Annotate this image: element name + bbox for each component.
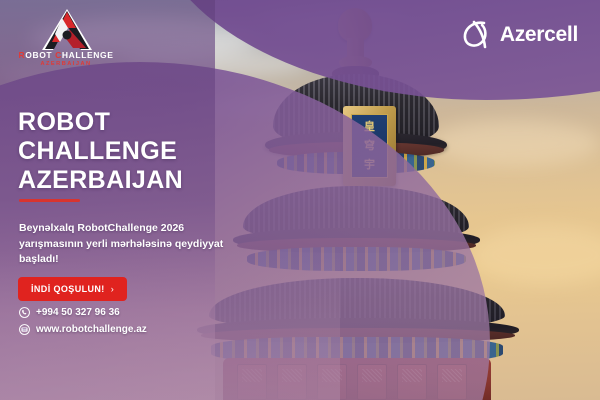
robot-challenge-triangle-mark — [40, 8, 94, 52]
azercell-wordmark: Azercell — [500, 23, 578, 47]
headline-line-2: CHALLENGE — [18, 137, 183, 166]
contact-website[interactable]: www.robotchallenge.az — [19, 324, 147, 335]
globe-circle-icon — [19, 324, 30, 335]
red-divider — [19, 199, 80, 202]
phone-number: +994 50 327 96 36 — [36, 307, 120, 318]
azercell-logo[interactable]: Azercell — [461, 18, 578, 52]
website-url: www.robotchallenge.az — [36, 324, 147, 335]
headline-line-3: AZERBAIJAN — [18, 166, 183, 195]
headline-line-1: ROBOT — [18, 108, 183, 137]
promotional-banner: 皇 穹 宇 — [0, 0, 600, 400]
contact-phone[interactable]: +994 50 327 96 36 — [19, 307, 120, 318]
phone-circle-icon — [19, 307, 30, 318]
join-now-button[interactable]: İNDİ QOŞULUN! › — [18, 277, 127, 301]
body-text: Beynəlxalq RobotChallenge 2026 yarışması… — [19, 221, 234, 268]
logo-subtitle: AZERBAIJAN — [18, 61, 114, 67]
chevron-right-icon: › — [111, 284, 114, 294]
page-title: ROBOT CHALLENGE AZERBAIJAN — [18, 108, 183, 195]
cta-label: İNDİ QOŞULUN! — [31, 284, 105, 294]
robot-challenge-logo[interactable]: ROBOT CHALLENGE AZERBAIJAN — [18, 8, 114, 70]
azercell-alpha-icon — [461, 20, 495, 50]
logo-title: ROBOT CHALLENGE — [18, 50, 114, 60]
